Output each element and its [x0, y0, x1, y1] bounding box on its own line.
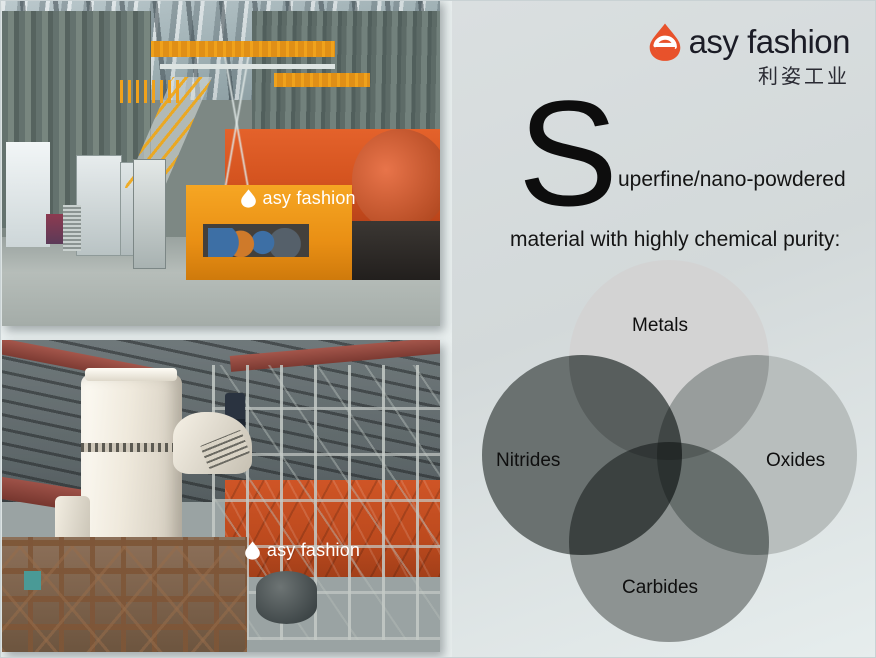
photo-column: asy fashion: [0, 0, 452, 658]
wall-ladder: [63, 205, 81, 251]
industrial-vessel-scaffolding-photo[interactable]: asy fashion: [2, 340, 440, 652]
easy-fashion-droplet-logo: [647, 22, 683, 62]
brand-wordmark-chinese: 利姿工业: [647, 60, 850, 89]
venn-circle-carbides: [569, 442, 769, 642]
vessel-top-cap: [85, 368, 177, 380]
teal-equipment: [24, 571, 42, 590]
content-panel: asy fashion 利姿工业 S uperfine/nano-powdere…: [452, 0, 876, 658]
venn-label-carbides: Carbides: [622, 577, 698, 599]
warehouse-doorway: [6, 142, 50, 247]
yellow-platform-secondary: [274, 73, 370, 86]
valve-assembly: [208, 228, 304, 258]
white-pressure-vessel: [81, 374, 182, 555]
headline-dropcap: S: [518, 78, 618, 228]
floor-shadow-area: [344, 221, 440, 280]
stair-handrail: [120, 80, 181, 103]
control-cabinet: [133, 159, 166, 269]
brand-logo[interactable]: asy fashion 利姿工业: [647, 22, 850, 89]
headline-line-1: uperfine/nano-powdered: [618, 168, 846, 192]
lower-drum-unit: [256, 571, 317, 624]
yellow-mezzanine-platform: [151, 41, 335, 57]
photo-2-scene: asy fashion: [2, 340, 440, 652]
slide-canvas: asy fashion: [0, 0, 876, 658]
venn-label-metals: Metals: [632, 315, 688, 337]
photo-1-scene: asy fashion: [2, 0, 440, 326]
tank-round-head: [352, 129, 440, 231]
headline-line-2: material with highly chemical purity:: [510, 228, 840, 252]
deck-cross-bracing: [2, 546, 247, 652]
venn-diagram: Metals Nitrides Oxides Carbides: [474, 250, 864, 640]
venn-label-oxides: Oxides: [766, 450, 825, 472]
brand-wordmark: asy fashion: [689, 23, 850, 61]
vessel-bolt-flange: [81, 443, 182, 452]
venn-label-nitrides: Nitrides: [496, 450, 560, 472]
overhead-pipe: [160, 64, 335, 69]
panel-door-2: [76, 155, 122, 255]
industrial-plant-warehouse-photo[interactable]: asy fashion: [2, 0, 440, 326]
